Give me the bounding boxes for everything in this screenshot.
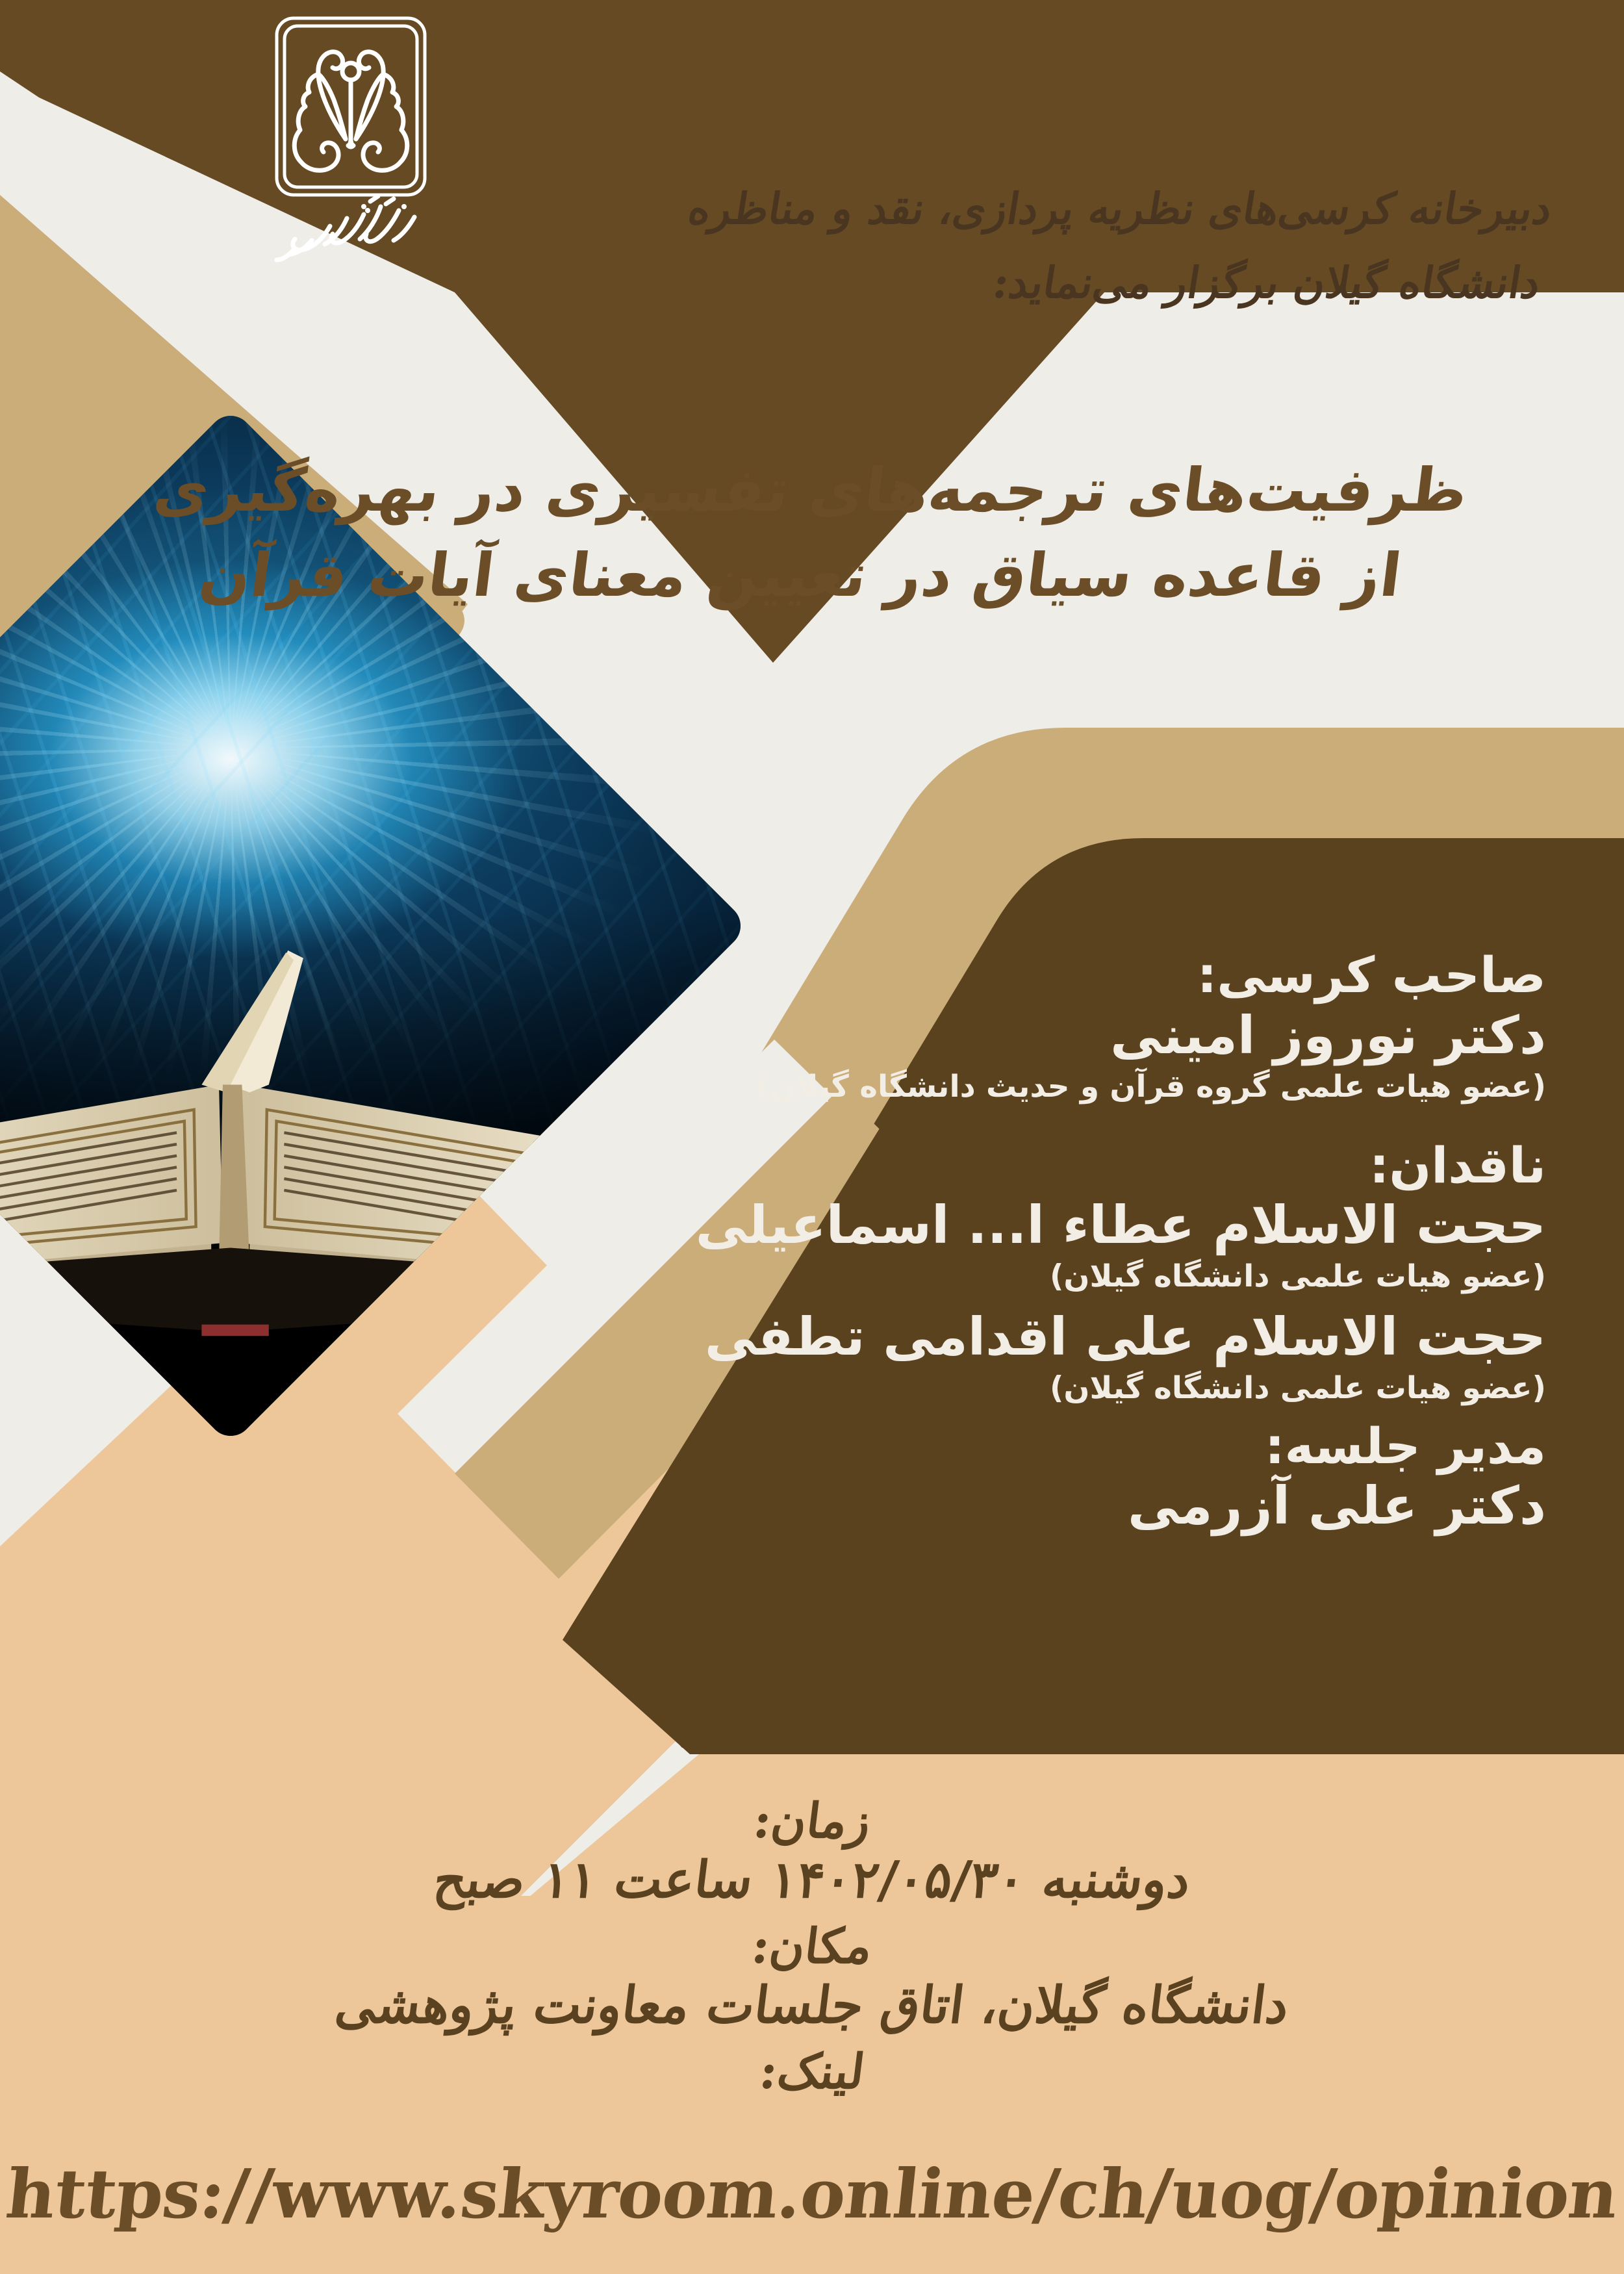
critic-1-name: حجت الاسلام عطاء ا... اسماعیلی <box>682 1194 1546 1257</box>
chair-name: دکتر نوروز امینی <box>682 1004 1546 1067</box>
critic-1-affiliation: (عضو هیات علمی دانشگاه گیلان) <box>682 1257 1546 1296</box>
time-label: زمان: <box>0 1793 1624 1850</box>
page-title: ظرفیت‌های ترجمه‌های تفسیری در بهره‌گیری … <box>61 448 1550 618</box>
organizer-line-1: دبیرخانه کرسی‌های نظریه پردازی، نقد و من… <box>683 172 1558 246</box>
organizer-text: دبیرخانه کرسی‌های نظریه پردازی، نقد و من… <box>671 172 1558 320</box>
moderator-name: دکتر علی آزرمی <box>682 1475 1546 1537</box>
participants-block: صاحب کرسی: دکتر نوروز امینی (عضو هیات عل… <box>682 942 1546 1537</box>
chair-affiliation: (عضو هیات علمی گروه قرآن و حدیث دانشگاه … <box>682 1067 1546 1106</box>
place-label: مکان: <box>0 1919 1624 1975</box>
event-details-block: زمان: دوشنبه ۱۴۰۲/۰۵/۳۰ ساعت ۱۱ صبح مکان… <box>0 1793 1624 2101</box>
link-label: لینک: <box>0 2044 1624 2101</box>
organizer-line-2: دانشگاه گیلان برگزار می‌نماید: <box>671 246 1546 320</box>
time-value: دوشنبه ۱۴۰۲/۰۵/۳۰ ساعت ۱۱ صبح <box>0 1850 1624 1911</box>
university-of-gilan-logo-icon <box>266 12 435 272</box>
moderator-label: مدیر جلسه: <box>682 1417 1546 1476</box>
critic-2-name: حجت الاسلام علی اقدامی تطفی <box>682 1306 1546 1368</box>
event-poster: دبیرخانه کرسی‌های نظریه پردازی، نقد و من… <box>0 0 1624 2274</box>
title-line-2: از قاعده سیاق در تعیین معنای آیات قرآن <box>61 533 1540 619</box>
critic-2-affiliation: (عضو هیات علمی دانشگاه گیلان) <box>682 1368 1546 1408</box>
chair-label: صاحب کرسی: <box>682 946 1546 1004</box>
place-value: دانشگاه گیلان، اتاق جلسات معاونت پژوهشی <box>0 1975 1624 2036</box>
university-logo <box>266 12 435 272</box>
critics-label: ناقدان: <box>682 1136 1546 1195</box>
meeting-link[interactable]: https://www.skyroom.online/ch/uog/opinio… <box>0 2154 1624 2234</box>
spacer <box>682 1116 1546 1132</box>
title-line-1: ظرفیت‌های ترجمه‌های تفسیری در بهره‌گیری <box>71 448 1550 533</box>
